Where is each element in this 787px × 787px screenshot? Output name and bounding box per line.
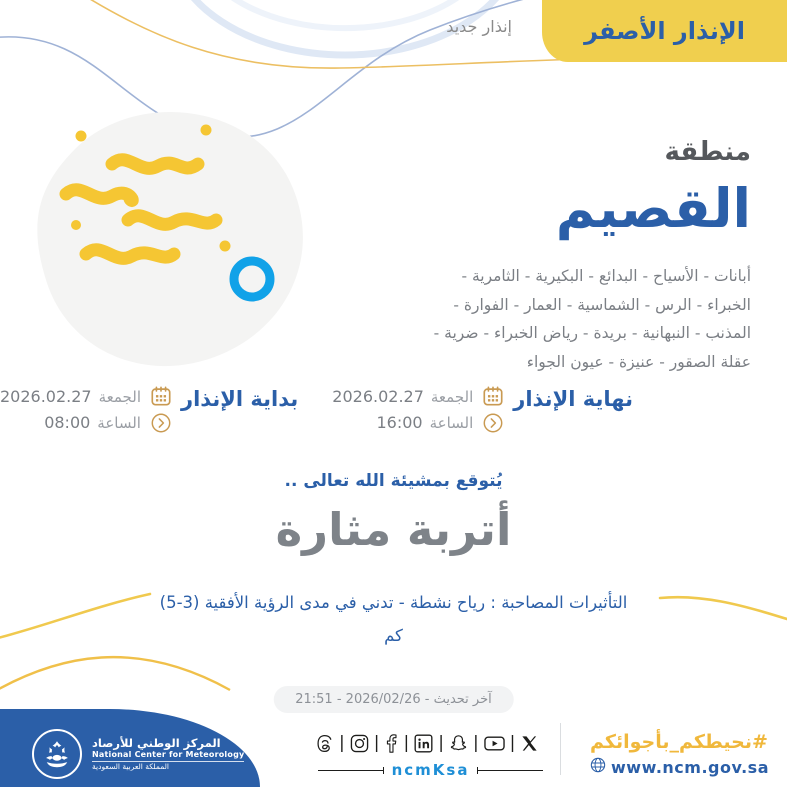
handle-line-right bbox=[318, 770, 384, 771]
alert-end-day: الجمعة bbox=[431, 388, 473, 406]
alert-end-time-label: الساعة bbox=[430, 414, 474, 432]
footer-brand-block: #نحيطكم_بأجوائكم www.ncm.gov.sa bbox=[590, 731, 769, 777]
icon-separator: | bbox=[374, 735, 380, 752]
alert-start-day: الجمعة bbox=[99, 388, 141, 406]
alert-end-time-line: الساعة 16:00 bbox=[376, 413, 473, 432]
cities-line: أبانات - الأسياح - البدائع - البكيرية - … bbox=[351, 262, 751, 291]
alert-end-title: نهاية الإنذار bbox=[513, 383, 633, 411]
social-icons-row: | | | | bbox=[315, 734, 539, 753]
alert-start-title: بداية الإنذار bbox=[181, 383, 298, 411]
threads-icon[interactable] bbox=[315, 734, 334, 753]
alert-start-date-line: الجمعة 2026.02.27 bbox=[0, 387, 141, 406]
alert-start-block: بداية الإنذار bbox=[0, 383, 298, 445]
region-prefix-label: منطقة bbox=[664, 137, 751, 167]
calendar-icon bbox=[482, 385, 504, 407]
associated-impacts: التأثيرات المصاحبة : رياح نشطة - تدني في… bbox=[0, 586, 787, 652]
logo-country-name: المملكة العربية السعودية bbox=[92, 763, 169, 771]
new-alert-label: إنذار جديد bbox=[446, 17, 512, 36]
alert-start-values: الجمعة 2026.02.27 الساعة 08:00 bbox=[0, 383, 141, 432]
cities-line: الخبراء - الرس - الشماسية - العمار - الف… bbox=[351, 291, 751, 320]
affected-cities-list: أبانات - الأسياح - البدائع - البكيرية - … bbox=[351, 262, 751, 377]
saudi-emblem-icon bbox=[32, 729, 82, 779]
icon-separator: | bbox=[510, 735, 516, 752]
alert-level-banner: الإنذار الأصفر bbox=[542, 0, 787, 62]
alert-end-date-line: الجمعة 2026.02.27 bbox=[332, 387, 473, 406]
x-twitter-icon[interactable] bbox=[520, 734, 539, 753]
icon-separator: | bbox=[438, 735, 444, 752]
alert-end-values: الجمعة 2026.02.27 الساعة 16:00 bbox=[332, 383, 473, 432]
website-url[interactable]: www.ncm.gov.sa bbox=[611, 758, 769, 777]
alert-window-row: بداية الإنذار bbox=[0, 383, 787, 445]
chevron-circle-icon bbox=[482, 412, 504, 434]
website-row[interactable]: www.ncm.gov.sa bbox=[590, 757, 769, 777]
logo-text-block: المركز الوطني للأرصاد National Center fo… bbox=[92, 737, 244, 771]
impacts-line: التأثيرات المصاحبة : رياح نشطة - تدني في… bbox=[95, 586, 692, 619]
icon-separator: | bbox=[403, 735, 409, 752]
calendar-icon bbox=[150, 385, 172, 407]
alert-level-label: الإنذار الأصفر bbox=[584, 17, 745, 45]
instagram-icon[interactable] bbox=[350, 734, 369, 753]
social-handle: ncmKsa bbox=[392, 761, 470, 779]
alert-end-date: 2026.02.27 bbox=[332, 387, 424, 406]
icon-separator: | bbox=[339, 735, 345, 752]
globe-icon bbox=[590, 757, 606, 777]
ncm-logo: المركز الوطني للأرصاد National Center fo… bbox=[32, 729, 244, 779]
alert-start-icons bbox=[150, 383, 172, 434]
logo-english-name: National Center for Meteorology bbox=[92, 751, 244, 762]
alert-start-time-line: الساعة 08:00 bbox=[44, 413, 141, 432]
cities-line: عقلة الصقور - عنيزة - عيون الجواء bbox=[351, 348, 751, 377]
handle-line-left bbox=[477, 770, 543, 771]
alert-start-time-label: الساعة bbox=[97, 414, 141, 432]
alert-end-icons bbox=[482, 383, 504, 434]
social-handle-row: ncmKsa bbox=[318, 761, 543, 779]
alert-start-time: 08:00 bbox=[44, 413, 90, 432]
alert-end-block: نهاية الإنذار bbox=[332, 383, 633, 445]
forecast-expect-label: يُتوقع بمشيئة الله تعالى .. bbox=[0, 471, 787, 491]
impacts-line: كم bbox=[95, 619, 692, 652]
linkedin-icon[interactable] bbox=[414, 734, 433, 753]
alert-start-date: 2026.02.27 bbox=[0, 387, 92, 406]
alert-end-time: 16:00 bbox=[376, 413, 422, 432]
alert-poster: الإنذار الأصفر إنذار جديد منطقة القصيم أ… bbox=[0, 0, 787, 787]
cities-line: المذنب - النبهانية - بريدة - رياض الخبرا… bbox=[351, 319, 751, 348]
weather-phenomenon: أتربة مثارة bbox=[0, 503, 787, 556]
icon-separator: | bbox=[473, 735, 479, 752]
chevron-circle-icon bbox=[150, 412, 172, 434]
snapchat-icon[interactable] bbox=[449, 734, 468, 753]
facebook-icon[interactable] bbox=[384, 734, 398, 753]
footer-divider bbox=[560, 723, 561, 775]
logo-arabic-name: المركز الوطني للأرصاد bbox=[92, 737, 221, 750]
blowing-dust-illustration bbox=[24, 96, 324, 381]
youtube-icon[interactable] bbox=[484, 734, 505, 753]
footer: المركز الوطني للأرصاد National Center fo… bbox=[0, 709, 787, 787]
region-name: القصيم bbox=[556, 178, 751, 240]
campaign-hashtag: #نحيطكم_بأجوائكم bbox=[590, 731, 768, 753]
